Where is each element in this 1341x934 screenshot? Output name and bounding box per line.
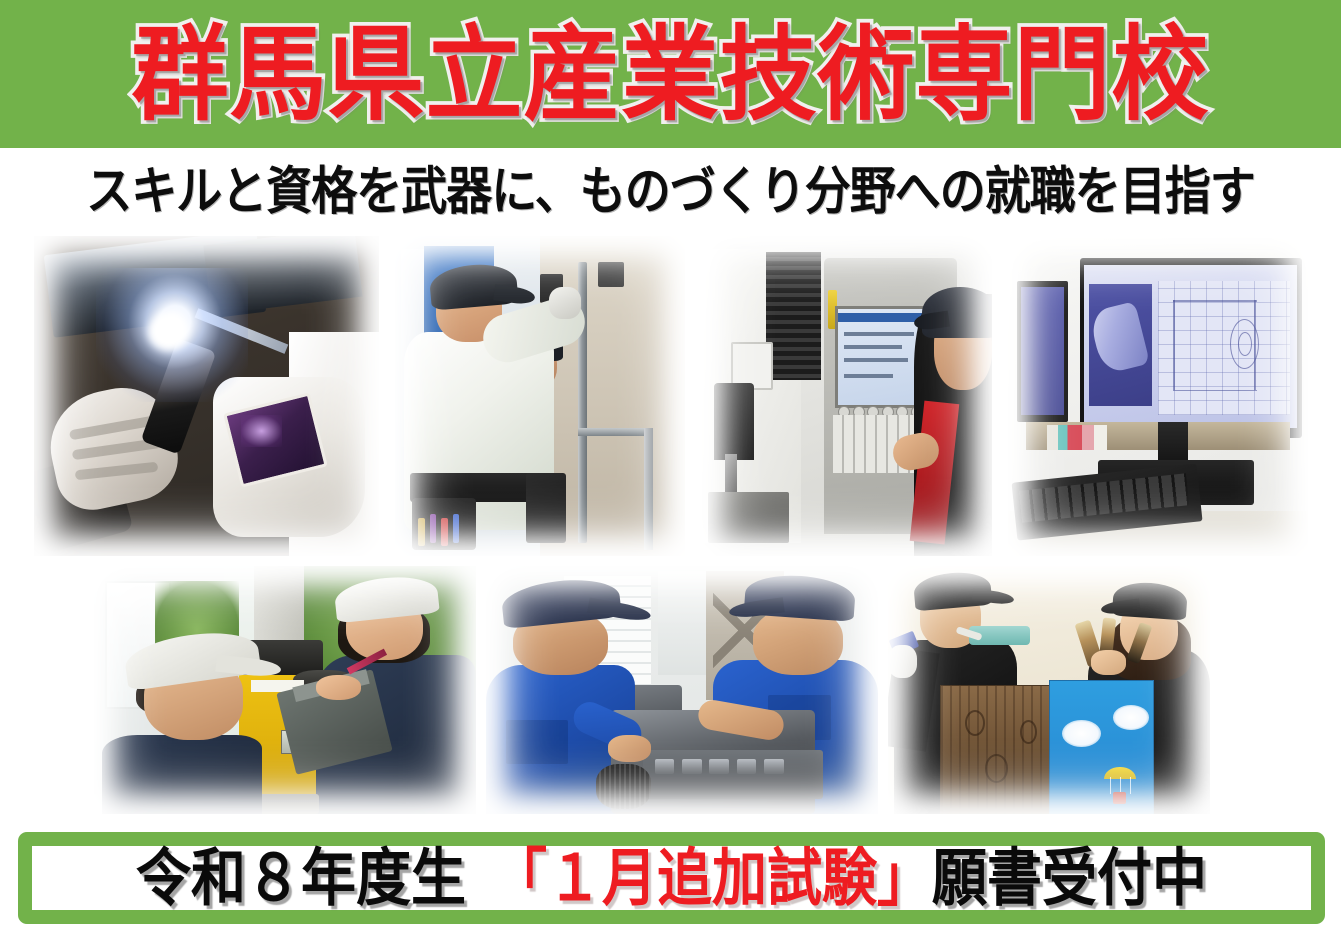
cnc-machining-photo	[702, 236, 992, 556]
header-banner: 群馬県立産業技術専門校	[0, 0, 1341, 148]
banner-school-year: 令和８年度生	[136, 847, 466, 910]
painting-photo	[888, 566, 1210, 814]
electrical-photo	[395, 236, 685, 556]
auto-mechanic-photo	[486, 566, 878, 814]
welding-photo	[34, 236, 379, 556]
subtitle-row: スキルと資格を武器に、ものづくり分野への就職を目指す	[0, 152, 1341, 230]
subtitle-text: スキルと資格を武器に、ものづくり分野への就職を目指す	[86, 165, 1255, 217]
admissions-banner-inner: 令和８年度生 「１月追加試験」 願書受付中	[32, 846, 1311, 910]
photo-gallery	[0, 228, 1341, 828]
page-title: 群馬県立産業技術専門校	[132, 23, 1210, 126]
admissions-banner: 令和８年度生 「１月追加試験」 願書受付中	[18, 832, 1325, 924]
surveying-photo	[94, 566, 476, 814]
cad-workstation-photo	[1008, 236, 1308, 556]
banner-application-status: 願書受付中	[932, 847, 1207, 910]
banner-exam-name: 「１月追加試験」	[492, 847, 932, 910]
